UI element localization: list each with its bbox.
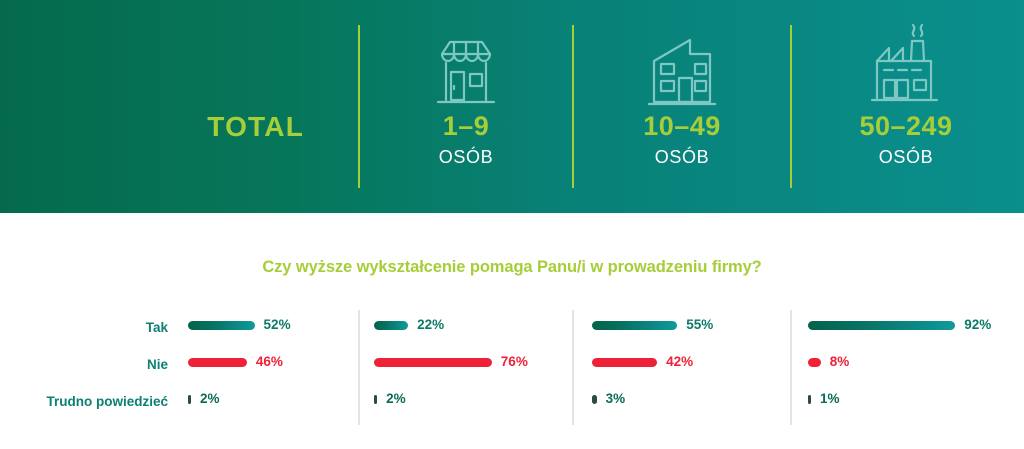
header-divider-3 bbox=[790, 25, 792, 188]
header-column-medium: 50–249 OSÓB bbox=[800, 0, 1012, 213]
bar-value-tak: 22% bbox=[417, 318, 444, 332]
size-unit-label: OSÓB bbox=[800, 148, 1012, 166]
row-label-tak: Tak bbox=[146, 321, 168, 335]
bar-value-nie: 46% bbox=[256, 355, 283, 369]
row-label-nie: Nie bbox=[147, 358, 168, 372]
office-building-icon bbox=[582, 20, 782, 110]
chart-divider-2 bbox=[572, 310, 574, 425]
size-unit-label: OSÓB bbox=[368, 148, 564, 166]
bar-nie bbox=[592, 358, 657, 367]
bar-value-tak: 52% bbox=[264, 318, 291, 332]
bar-value-nie: 8% bbox=[830, 355, 850, 369]
bar-row-trudno: 2% bbox=[188, 391, 220, 407]
header-banner: TOTAL bbox=[0, 0, 1024, 213]
bar-row-nie: 8% bbox=[808, 354, 849, 370]
bar-row-tak: 52% bbox=[188, 317, 291, 333]
chart-title: Czy wyższe wykształcenie pomaga Panu/i w… bbox=[0, 258, 1024, 277]
bar-nie bbox=[374, 358, 492, 367]
bar-row-nie: 46% bbox=[188, 354, 283, 370]
bar-nie bbox=[808, 358, 821, 367]
bar-value-nie: 76% bbox=[501, 355, 528, 369]
bar-tak bbox=[592, 321, 677, 330]
bar-row-tak: 55% bbox=[592, 317, 713, 333]
shop-icon bbox=[368, 20, 564, 110]
bar-trudno bbox=[188, 395, 191, 404]
header-divider-2 bbox=[572, 25, 574, 188]
bar-row-nie: 42% bbox=[592, 354, 693, 370]
row-label-trudno-powiedziec: Trudno powiedzieć bbox=[46, 395, 168, 409]
bar-trudno bbox=[808, 395, 811, 404]
bar-value-trudno: 3% bbox=[606, 392, 626, 406]
bar-value-tak: 55% bbox=[686, 318, 713, 332]
bar-value-trudno: 2% bbox=[386, 392, 406, 406]
infographic-page: TOTAL bbox=[0, 0, 1024, 449]
size-range-label: 1–9 bbox=[368, 113, 564, 140]
header-column-small: 10–49 OSÓB bbox=[582, 0, 782, 213]
bar-tak bbox=[374, 321, 408, 330]
bar-value-tak: 92% bbox=[964, 318, 991, 332]
total-label: TOTAL bbox=[207, 113, 304, 141]
bar-row-nie: 76% bbox=[374, 354, 528, 370]
header-divider-1 bbox=[358, 25, 360, 188]
bar-row-trudno: 1% bbox=[808, 391, 840, 407]
bar-nie bbox=[188, 358, 247, 367]
bar-value-trudno: 1% bbox=[820, 392, 840, 406]
size-unit-label: OSÓB bbox=[582, 148, 782, 166]
size-range-label: 50–249 bbox=[800, 113, 1012, 140]
chart-divider-1 bbox=[358, 310, 360, 425]
bar-row-trudno: 2% bbox=[374, 391, 406, 407]
factory-icon bbox=[800, 20, 1012, 110]
header-column-total: TOTAL bbox=[60, 0, 350, 213]
header-column-micro: 1–9 OSÓB bbox=[368, 0, 564, 213]
bar-trudno bbox=[374, 395, 377, 404]
size-range-label: 10–49 bbox=[582, 113, 782, 140]
bar-row-tak: 92% bbox=[808, 317, 991, 333]
bar-row-tak: 22% bbox=[374, 317, 444, 333]
bar-row-trudno: 3% bbox=[592, 391, 625, 407]
bar-trudno bbox=[592, 395, 597, 404]
chart-divider-3 bbox=[790, 310, 792, 425]
bar-tak bbox=[808, 321, 955, 330]
bar-value-trudno: 2% bbox=[200, 392, 220, 406]
bar-value-nie: 42% bbox=[666, 355, 693, 369]
chart-section: Czy wyższe wykształcenie pomaga Panu/i w… bbox=[0, 213, 1024, 449]
bar-tak bbox=[188, 321, 255, 330]
